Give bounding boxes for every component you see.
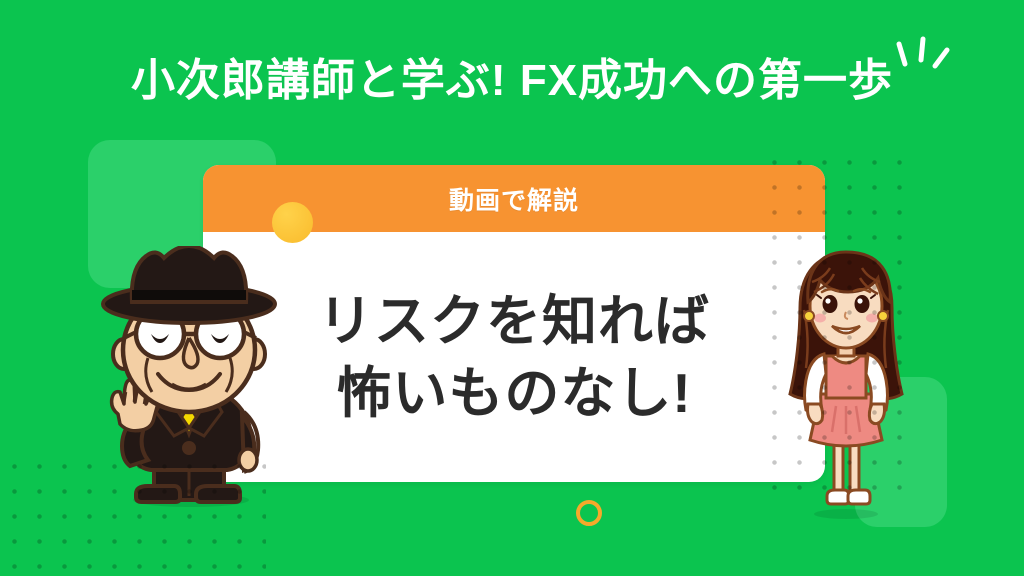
headline-line-1: リスクを知れば xyxy=(318,292,710,350)
male-instructor-illustration xyxy=(96,246,282,510)
female-student-illustration xyxy=(780,244,912,522)
yellow-circle-dot xyxy=(272,202,313,243)
sparkle-lines-icon xyxy=(895,34,961,90)
orange-ring-circle xyxy=(576,500,602,526)
page-title: 小次郎講師と学ぶ! FX成功への第一歩 xyxy=(0,44,1024,108)
video-banner-label: 動画で解説 xyxy=(449,181,579,217)
headline-block: リスクを知れば 怖いものなし! xyxy=(203,232,825,482)
slide-canvas: 小次郎講師と学ぶ! FX成功への第一歩 動画で解説 リスクを知れば 怖いものなし… xyxy=(0,0,1024,576)
headline-line-2: 怖いものなし! xyxy=(336,364,691,422)
